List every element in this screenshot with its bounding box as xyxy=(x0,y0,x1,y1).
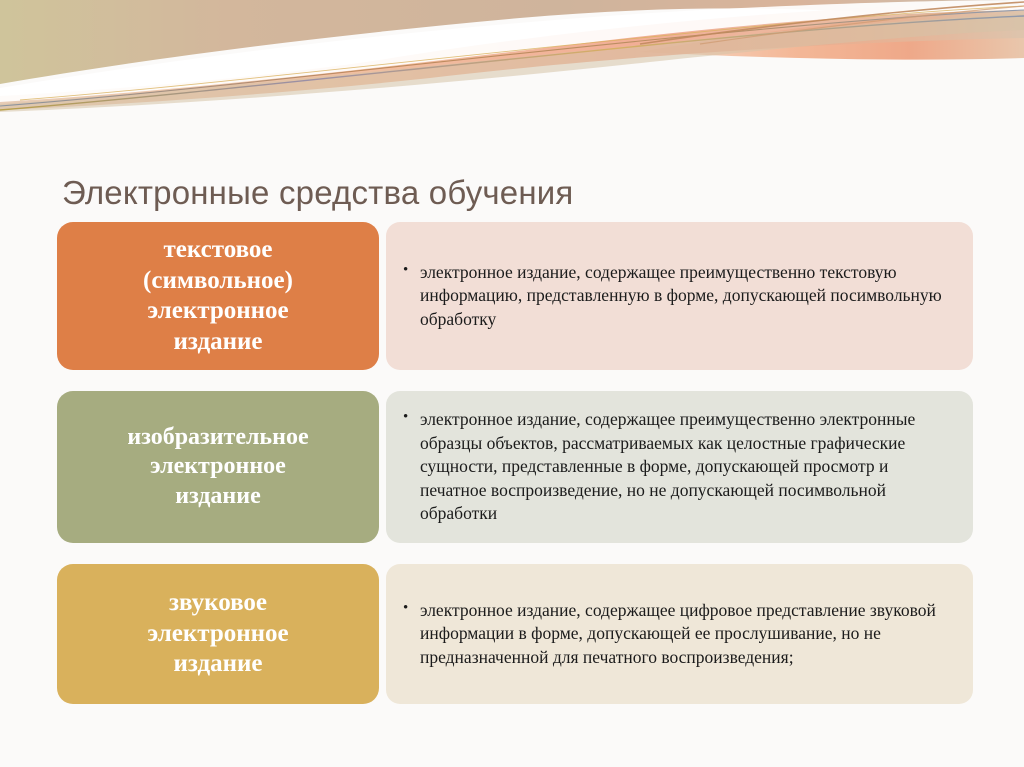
bullet-icon: • xyxy=(403,407,408,427)
description-text: электронное издание, содержащее цифровое… xyxy=(420,600,936,667)
description-item: • электронное издание, содержащее преиму… xyxy=(400,261,947,331)
description-item: • электронное издание, содержащее преиму… xyxy=(400,408,947,525)
category-list: текстовое (символьное) электронное издан… xyxy=(0,222,1024,725)
description-text: электронное издание, содержащее преимуще… xyxy=(420,262,942,329)
description-panel-pictorial: • электронное издание, содержащее преиму… xyxy=(386,391,973,543)
description-list: • электронное издание, содержащее преиму… xyxy=(400,261,947,331)
category-label: текстовое (символьное) электронное издан… xyxy=(143,235,293,357)
bullet-icon: • xyxy=(403,260,408,280)
page-title: Электронные средства обучения xyxy=(62,174,962,212)
description-item: • электронное издание, содержащее цифров… xyxy=(400,599,947,669)
list-item: изобразительное электронное издание • эл… xyxy=(0,391,1024,543)
description-panel-textual: • электронное издание, содержащее преиму… xyxy=(386,222,973,370)
category-label: звуковое электронное издание xyxy=(147,588,288,680)
category-box-pictorial[interactable]: изобразительное электронное издание xyxy=(57,391,379,543)
description-list: • электронное издание, содержащее преиму… xyxy=(400,408,947,525)
slide-canvas: Электронные средства обучения текстовое … xyxy=(0,0,1024,767)
description-text: электронное издание, содержащее преимуще… xyxy=(420,409,915,523)
category-box-textual[interactable]: текстовое (символьное) электронное издан… xyxy=(57,222,379,370)
list-item: звуковое электронное издание • электронн… xyxy=(0,564,1024,704)
list-item: текстовое (символьное) электронное издан… xyxy=(0,222,1024,370)
description-list: • электронное издание, содержащее цифров… xyxy=(400,599,947,669)
description-panel-audio: • электронное издание, содержащее цифров… xyxy=(386,564,973,704)
category-box-audio[interactable]: звуковое электронное издание xyxy=(57,564,379,704)
bullet-icon: • xyxy=(403,598,408,618)
category-label: изобразительное электронное издание xyxy=(127,423,308,511)
header-swoosh-decoration xyxy=(0,0,1024,112)
